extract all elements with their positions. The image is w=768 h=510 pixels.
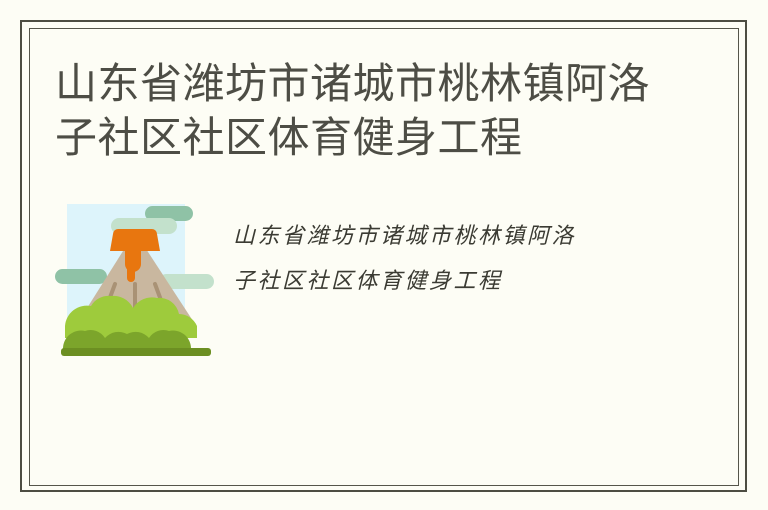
volcano-icon bbox=[55, 196, 217, 362]
caption-line-2: 子社区社区体育健身工程 bbox=[233, 259, 693, 304]
page-title: 山东省潍坊市诸城市桃林镇阿洛 子社区社区体育健身工程 bbox=[55, 57, 675, 165]
illustration-row: 山东省潍坊市诸城市桃林镇阿洛 子社区社区体育健身工程 bbox=[55, 196, 695, 366]
caption-line-1: 山东省潍坊市诸城市桃林镇阿洛 bbox=[233, 214, 693, 259]
page-title-line-1: 山东省潍坊市诸城市桃林镇阿洛 bbox=[55, 57, 675, 111]
page-canvas: 山东省潍坊市诸城市桃林镇阿洛 子社区社区体育健身工程 bbox=[0, 0, 768, 510]
page-title-line-2: 子社区社区体育健身工程 bbox=[55, 111, 675, 165]
caption-text: 山东省潍坊市诸城市桃林镇阿洛 子社区社区体育健身工程 bbox=[233, 214, 693, 304]
